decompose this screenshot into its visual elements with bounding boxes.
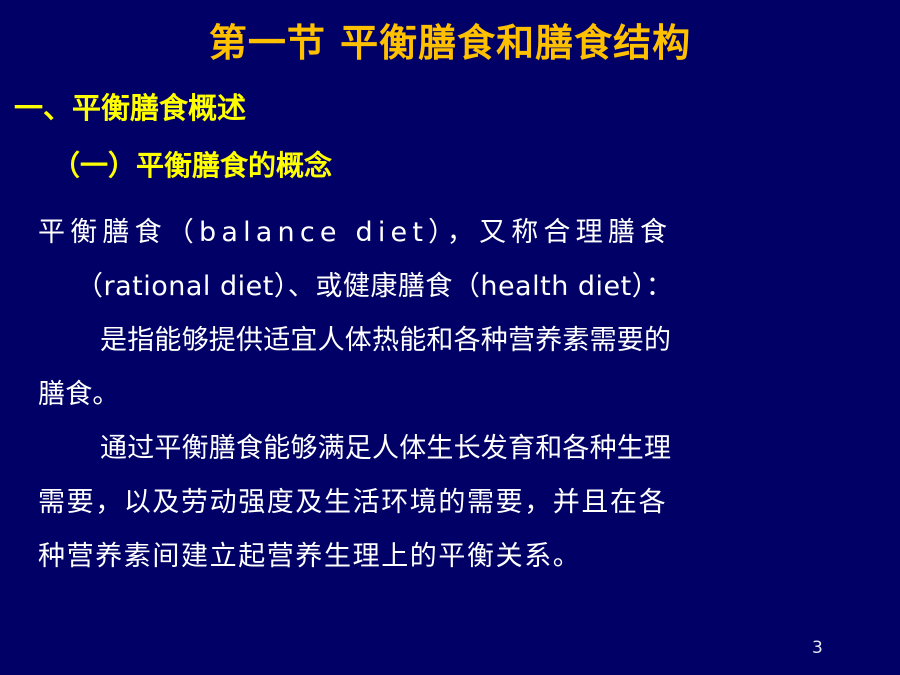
body-line: 是指能够提供适宜人体热能和各种营养素需要的 (24, 314, 870, 368)
body-line: 通过平衡膳食能够满足人体生长发育和各种生理 (24, 422, 870, 476)
presentation-slide: 第一节 平衡膳食和膳食结构 一、平衡膳食概述 （一）平衡膳食的概念 平衡膳食（b… (0, 0, 900, 675)
body-line: （rational diet）、或健康膳食（health diet）： (24, 260, 870, 314)
body-line: 膳食。 (24, 368, 870, 422)
page-number: 3 (812, 640, 823, 657)
slide-body-text: 平衡膳食（balance diet），又称合理膳食 （rational diet… (24, 206, 870, 584)
body-line: 需要，以及劳动强度及生活环境的需要，并且在各 (24, 476, 870, 530)
body-line: 平衡膳食（balance diet），又称合理膳食 (24, 206, 870, 260)
section-heading-level-2: （一）平衡膳食的概念 (52, 150, 332, 182)
slide-title: 第一节 平衡膳食和膳食结构 (0, 22, 900, 64)
body-line: 种营养素间建立起营养生理上的平衡关系。 (24, 530, 870, 584)
section-heading-level-1: 一、平衡膳食概述 (14, 92, 246, 125)
